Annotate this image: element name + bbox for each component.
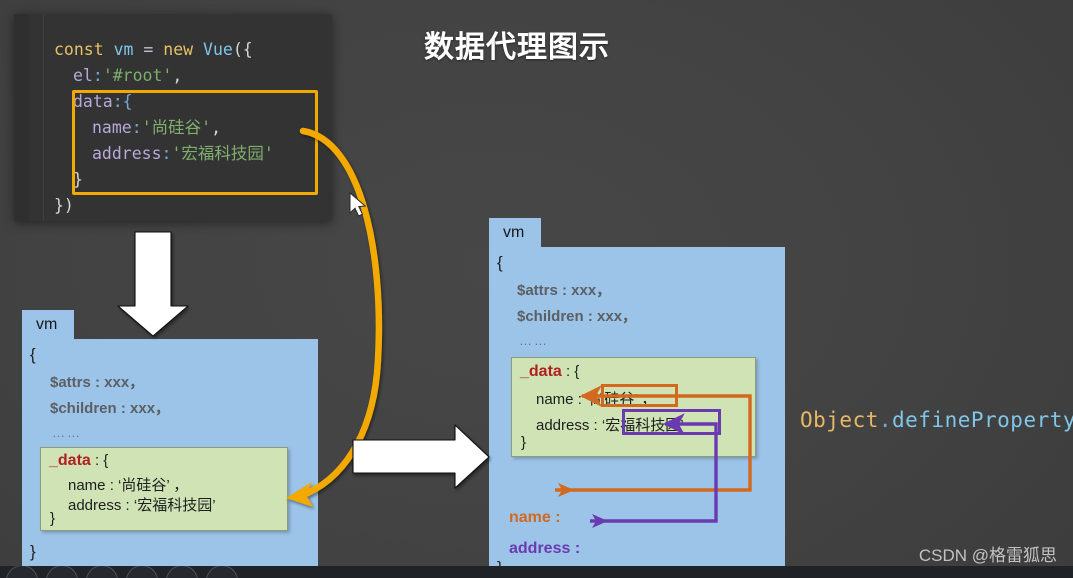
mouse-cursor (350, 193, 365, 216)
code-line-1: el:'#root', (54, 63, 274, 89)
dock-item[interactable] (126, 566, 158, 578)
slide-canvas: const vm = new Vue({el:'#root',data:{nam… (0, 0, 1073, 578)
code-token (133, 40, 143, 59)
left-data-address-line: address : ‘宏福科技园’ (68, 494, 216, 515)
left-data-box: _data : { name : ‘尚硅谷’ ， address : ‘宏福科技… (40, 447, 288, 531)
left-data-name-line: name : ‘尚硅谷’ ， (68, 474, 188, 495)
accessor-name-label: name : (509, 509, 561, 527)
left-vm-ellipsis: …… (52, 425, 82, 440)
right-vm-attrs: $attrs : xxx， (517, 279, 611, 300)
right-data-address-label: address : (536, 417, 602, 434)
left-vm-tab: vm (22, 310, 74, 339)
left-data-key: _data (49, 452, 91, 469)
code-line-6: }) (54, 193, 274, 219)
block-arrow-right (353, 425, 489, 488)
code-token: : (93, 66, 103, 85)
odp-object: Object (800, 408, 879, 432)
data-block-highlight-box (72, 90, 318, 195)
right-vm-ellipsis: …… (519, 333, 549, 348)
code-token: Vue (203, 40, 233, 59)
code-token (193, 40, 203, 59)
dock-item[interactable] (6, 566, 38, 578)
left-data-key-line: _data : { (49, 452, 108, 470)
left-vm-close-brace: } (30, 542, 36, 562)
code-token: , (172, 66, 182, 85)
left-vm-body: { $attrs : xxx， $children : xxx， …… _dat… (22, 339, 318, 572)
dock-item[interactable] (46, 566, 78, 578)
right-data-close-brace: } (521, 434, 526, 451)
dock-item[interactable] (86, 566, 118, 578)
odp-method: defineProperty (892, 408, 1073, 432)
right-vm-panel: vm { $attrs : xxx， $children : xxx， …… _… (489, 218, 785, 572)
code-token: '#root' (103, 66, 173, 85)
code-token: vm (114, 40, 134, 59)
right-vm-body: { $attrs : xxx， $children : xxx， …… _dat… (489, 247, 785, 572)
left-vm-children: $children : xxx， (50, 397, 170, 418)
code-token: new (163, 40, 193, 59)
accessor-address-label: address : (509, 540, 580, 558)
name-value-highlight-box (601, 384, 678, 407)
dock-bar (0, 566, 1073, 578)
left-vm-open-brace: { (30, 345, 36, 365)
address-value-highlight-box (622, 409, 721, 435)
code-token (104, 40, 114, 59)
left-data-close-brace: } (50, 510, 55, 527)
right-vm-children: $children : xxx， (517, 305, 637, 326)
code-token: = (143, 40, 153, 59)
left-vm-panel: vm { $attrs : xxx， $children : xxx， …… _… (22, 310, 318, 572)
code-token (153, 40, 163, 59)
right-data-box: _data : { name : ‘尚硅谷’ ， address : ‘宏福科技… (511, 357, 756, 457)
right-vm-open-brace: { (497, 253, 503, 273)
code-token: ({ (233, 40, 253, 59)
page-title: 数据代理图示 (424, 22, 610, 66)
watermark: CSDN @格雷狐思 (919, 541, 1057, 566)
code-indent-guide (43, 14, 44, 221)
code-token: const (54, 40, 104, 59)
code-panel: const vm = new Vue({el:'#root',data:{nam… (14, 14, 332, 221)
right-vm-tab: vm (489, 218, 541, 247)
right-data-key-line: _data : { (520, 363, 579, 381)
left-data-key-suffix: : { (91, 452, 109, 469)
dock-item[interactable] (206, 566, 238, 578)
code-token: el (73, 66, 93, 85)
code-gutter (14, 14, 29, 221)
left-vm-attrs: $attrs : xxx， (50, 371, 144, 392)
object-define-property-label: Object.defineProperty (800, 408, 1073, 432)
code-token: }) (54, 196, 74, 215)
right-data-key-suffix: : { (562, 363, 580, 380)
code-line-0: const vm = new Vue({ (54, 37, 274, 63)
odp-dot: . (879, 408, 892, 432)
dock-item[interactable] (166, 566, 198, 578)
right-data-name-label: name : (536, 391, 586, 408)
right-data-key: _data (520, 363, 562, 380)
